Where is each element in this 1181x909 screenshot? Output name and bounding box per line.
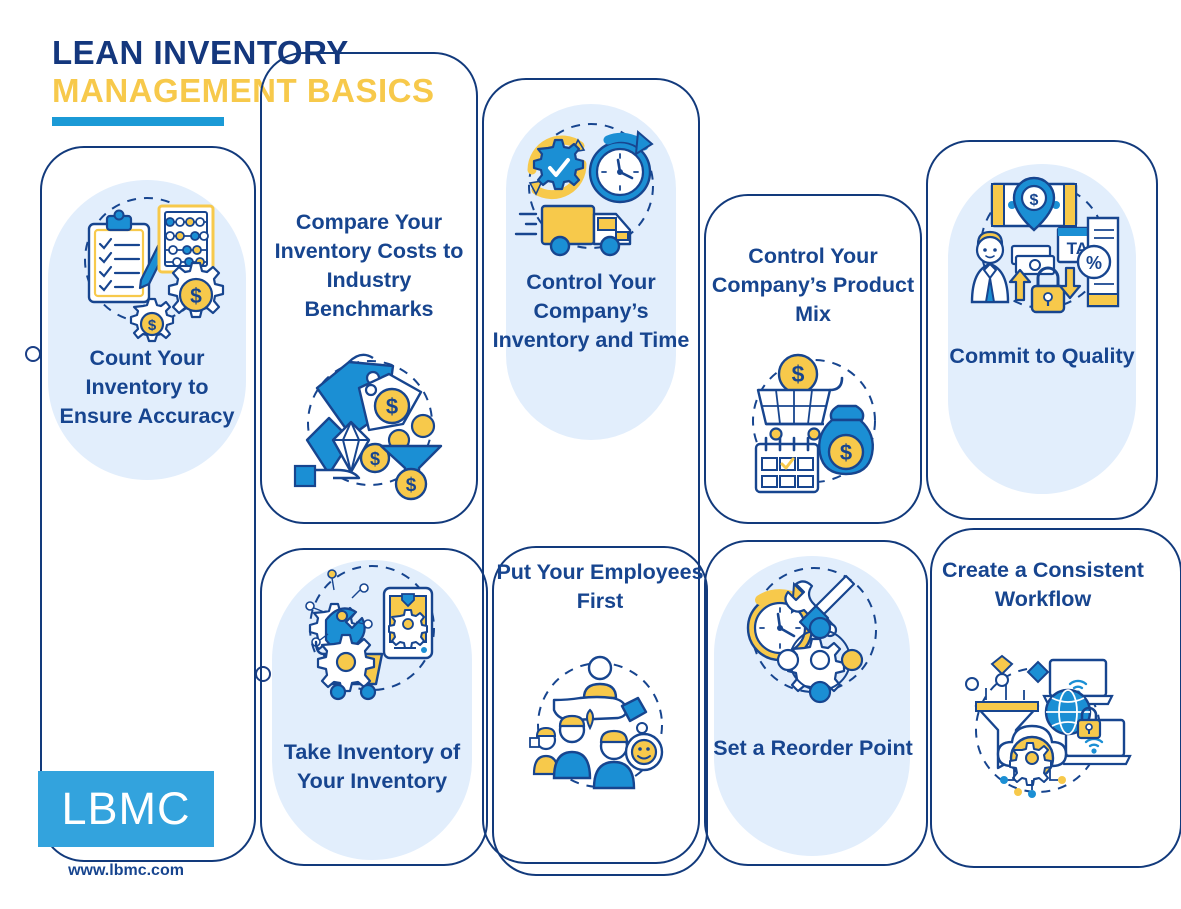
card-2-icon-group: $ $ $ bbox=[289, 348, 451, 498]
svg-text:$: $ bbox=[792, 361, 805, 387]
money-bag-icon: $ bbox=[819, 406, 873, 474]
svg-text:$: $ bbox=[406, 475, 417, 496]
clipboard-checklist-icon bbox=[89, 211, 167, 303]
lbmc-website-url: www.lbmc.com bbox=[38, 862, 214, 880]
team-group-icon bbox=[530, 710, 662, 788]
card-4[interactable]: Control Your Company’s Product Mix $ bbox=[706, 242, 920, 512]
abacus-icon bbox=[159, 206, 213, 272]
card-8-icon-group bbox=[738, 566, 890, 714]
card-7-label: Put Your Employees First bbox=[494, 558, 706, 616]
svg-text:$: $ bbox=[386, 394, 398, 419]
card-9-label: Create a Consistent Workflow bbox=[932, 556, 1154, 614]
svg-text:%: % bbox=[1086, 253, 1102, 273]
lbmc-logo-text: LBMC bbox=[38, 785, 214, 833]
gear-cart-icon bbox=[316, 635, 382, 699]
clock-arrow-icon bbox=[590, 132, 652, 202]
card-1-icon-group: $ $ bbox=[67, 188, 227, 348]
card-3[interactable]: Control Your Company’s Inventory and Tim… bbox=[490, 104, 692, 440]
calendar-check-icon bbox=[756, 438, 818, 492]
card-5-label: Commit to Quality bbox=[938, 342, 1146, 371]
businessman-icon bbox=[972, 232, 1008, 302]
delivery-truck-icon bbox=[516, 206, 630, 255]
card-8-label: Set a Reorder Point bbox=[710, 734, 916, 763]
card-6[interactable]: Take Inventory of Your Inventory bbox=[268, 560, 476, 860]
infographic-canvas: LEAN INVENTORY MANAGEMENT BASICS bbox=[0, 0, 1181, 909]
card-5-icon-group: $ bbox=[964, 174, 1122, 330]
cash-stack-icon bbox=[1012, 246, 1054, 274]
connector-dot-left-top bbox=[25, 346, 41, 362]
card-8[interactable]: Set a Reorder Point bbox=[710, 556, 916, 856]
hand-person-icon bbox=[554, 657, 646, 721]
gear-check-cycle-icon bbox=[530, 140, 584, 195]
svg-text:$: $ bbox=[840, 440, 852, 465]
dollar-gear-icon: $ bbox=[169, 263, 223, 317]
svg-text:$: $ bbox=[370, 449, 380, 469]
banknote-pin-icon: $ bbox=[992, 178, 1076, 230]
card-9-icon-group bbox=[962, 658, 1128, 810]
card-9[interactable]: Create a Consistent Workflow bbox=[932, 556, 1154, 856]
card-4-icon-group: $ bbox=[736, 348, 892, 494]
svg-text:$: $ bbox=[190, 285, 202, 308]
svg-text:$: $ bbox=[148, 317, 157, 334]
svg-text:$: $ bbox=[1030, 192, 1039, 209]
card-3-icon-group bbox=[512, 114, 670, 264]
card-1-label: Count Your Inventory to Ensure Accuracy bbox=[48, 344, 246, 431]
card-5[interactable]: $ bbox=[938, 164, 1146, 494]
small-dollar-gear-icon: $ bbox=[131, 299, 173, 341]
card-4-label: Control Your Company’s Product Mix bbox=[706, 242, 920, 329]
card-2-label: Compare Your Inventory Costs to Industry… bbox=[262, 208, 476, 324]
card-2[interactable]: Compare Your Inventory Costs to Industry… bbox=[262, 208, 476, 508]
card-1[interactable]: $ $ Count Your Inventory to Ensure Accur… bbox=[48, 180, 246, 480]
tablet-gear-icon bbox=[384, 588, 432, 658]
dollar-tag-icon: $ bbox=[359, 374, 421, 430]
card-7-icon-group bbox=[524, 654, 676, 796]
card-6-label: Take Inventory of Your Inventory bbox=[268, 738, 476, 796]
card-7[interactable]: Put Your Employees First bbox=[494, 558, 706, 858]
title-underline-bar bbox=[52, 117, 224, 126]
card-6-icon-group bbox=[296, 568, 448, 714]
card-3-label: Control Your Company’s Inventory and Tim… bbox=[490, 268, 692, 355]
lbmc-logo: LBMC bbox=[38, 771, 214, 847]
